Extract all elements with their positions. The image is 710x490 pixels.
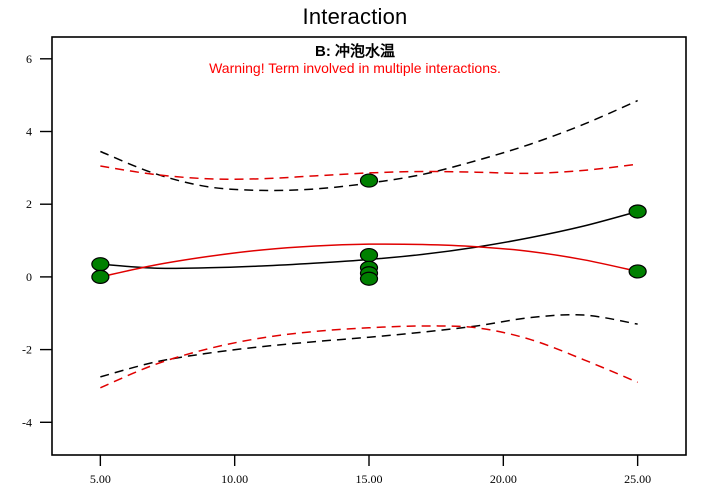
data-point-marker [92,258,109,271]
x-tick-label: 15.00 [356,472,383,486]
data-point-marker [361,249,378,262]
y-tick-label: 0 [26,270,32,284]
x-tick-label: 20.00 [490,472,517,486]
data-point-marker [361,174,378,187]
data-series-group [100,101,637,388]
plot-area: 6420-2-4 5.0010.0015.0020.0025.00 [0,0,710,490]
y-tick-label: 4 [26,125,32,139]
data-point-marker [361,272,378,285]
y-tick-label: -4 [22,415,32,429]
data-point-marker [629,205,646,218]
series-black-lower-ci [100,315,637,377]
x-axis-ticks: 5.0010.0015.0020.0025.00 [90,455,651,486]
y-axis-ticks: 6420-2-4 [22,52,52,429]
data-point-marker [92,270,109,283]
y-tick-label: -2 [22,343,32,357]
x-tick-label: 25.00 [624,472,651,486]
chart-root: Interaction B: 冲泡水温 Warning! Term involv… [0,0,710,490]
data-point-marker [629,265,646,278]
plot-frame [52,37,686,455]
x-tick-label: 5.00 [90,472,111,486]
y-tick-label: 2 [26,197,32,211]
x-tick-label: 10.00 [221,472,248,486]
y-tick-label: 6 [26,52,32,66]
